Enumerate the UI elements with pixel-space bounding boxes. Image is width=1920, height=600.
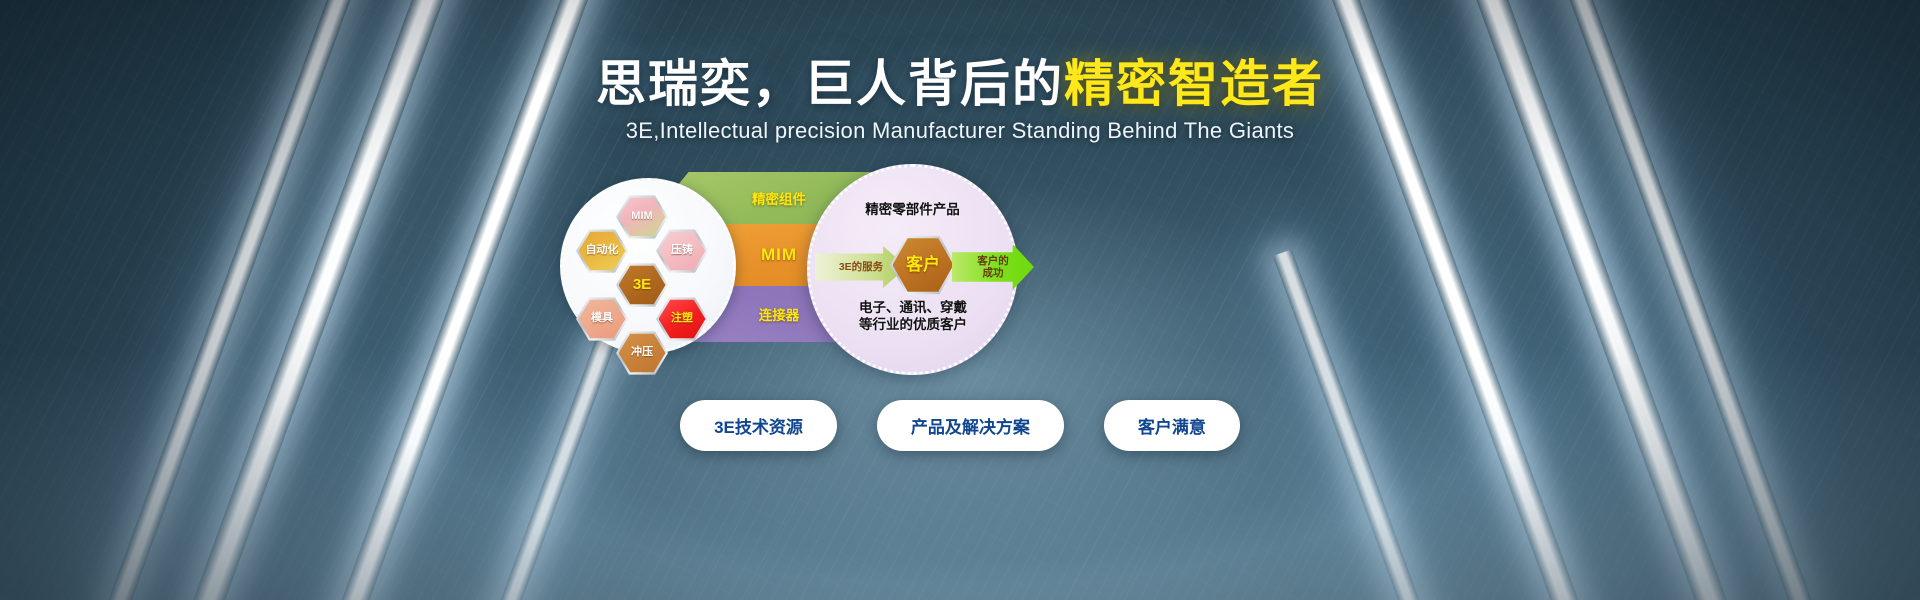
arrow-label-line1: 客户的 (977, 255, 1009, 267)
hex-label: 压铸 (671, 245, 693, 257)
page-subtitle: 3E,Intellectual precision Manufacturer S… (0, 118, 1920, 144)
pill-tech-resources[interactable]: 3E技术资源 (680, 400, 837, 451)
process-diagram: 精密组件 MIM 连接器 MIM 自动化 压铸 模具 3E 注塑 冲压 精密零部… (560, 170, 1000, 350)
page-title: 思瑞奕，巨人背后的精密智造者 (0, 58, 1920, 111)
headline-block: 思瑞奕，巨人背后的精密智造者 3E,Intellectual precision… (0, 58, 1920, 144)
floor-glow (0, 350, 1920, 600)
pill-products-solutions[interactable]: 产品及解决方案 (877, 400, 1064, 451)
hero-banner: 思瑞奕，巨人背后的精密智造者 3E,Intellectual precision… (0, 0, 1920, 600)
hex-label: 客户 (906, 256, 940, 274)
band-label: 精密组件 (752, 188, 806, 208)
band-label: MIM (761, 245, 797, 265)
band-label: 连接器 (759, 304, 800, 324)
title-highlight-text: 精密智造者 (1064, 56, 1324, 112)
arrow-label-line2: 成功 (983, 267, 1004, 279)
hex-label: 冲压 (631, 347, 653, 359)
hex-label: MIM (631, 211, 652, 223)
precision-parts-heading: 精密零部件产品 (830, 198, 995, 218)
cta-pill-group: 3E技术资源 产品及解决方案 客户满意 (0, 400, 1920, 451)
arrow-customer-success: 客户的 成功 (952, 244, 1034, 290)
pill-customer-satisfaction[interactable]: 客户满意 (1104, 400, 1240, 451)
hex-label: 3E (633, 277, 651, 293)
title-plain-text: 思瑞奕，巨人背后的 (596, 56, 1064, 112)
arrow-label: 3E的服务 (839, 261, 883, 273)
hex-label: 注塑 (671, 313, 693, 325)
hex-label: 自动化 (586, 245, 619, 257)
industries-line1: 电子、通讯、穿戴 (859, 300, 967, 315)
arrow-label: 客户的 成功 (977, 255, 1009, 279)
customer-industries-text: 电子、通讯、穿戴 等行业的优质客户 (818, 300, 1008, 334)
hex-label: 模具 (591, 313, 613, 325)
industries-line2: 等行业的优质客户 (859, 317, 967, 332)
